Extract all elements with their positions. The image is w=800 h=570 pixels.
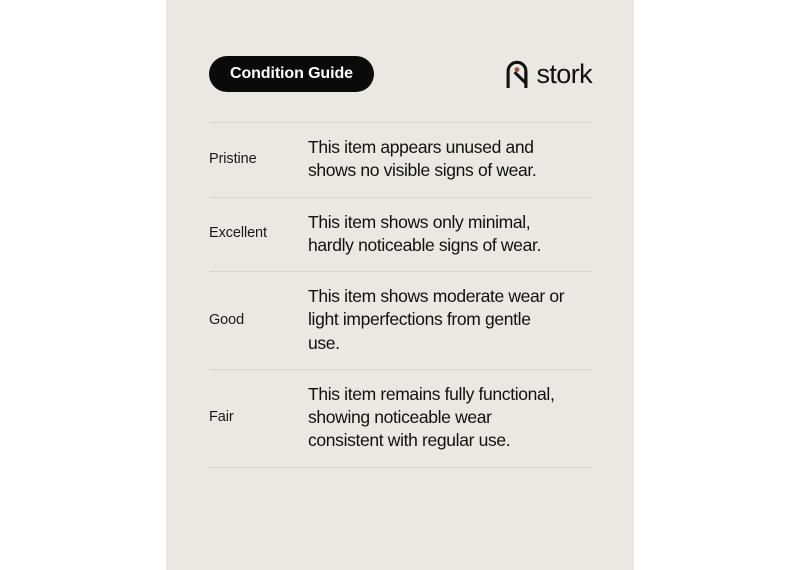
page-root: Condition Guide stork Pristine This item…: [0, 0, 800, 570]
condition-label: Pristine: [209, 150, 308, 169]
table-divider: [209, 467, 592, 468]
condition-label: Fair: [209, 408, 308, 427]
table-row: Good This item shows moderate wear or li…: [209, 272, 592, 369]
condition-label: Good: [209, 311, 308, 330]
table-row: Excellent This item shows only minimal, …: [209, 198, 592, 272]
condition-label: Excellent: [209, 224, 308, 243]
table-row: Fair This item remains fully functional,…: [209, 370, 592, 467]
stork-arch-logo-icon: [505, 59, 529, 89]
condition-description: This item shows moderate wear or light i…: [308, 285, 592, 355]
condition-table: Pristine This item appears unused and sh…: [209, 122, 592, 468]
condition-guide-card: Condition Guide stork Pristine This item…: [166, 0, 634, 570]
condition-description: This item shows only minimal, hardly not…: [308, 211, 592, 258]
condition-description: This item appears unused and shows no vi…: [308, 136, 592, 183]
table-row: Pristine This item appears unused and sh…: [209, 123, 592, 197]
brand-name: stork: [536, 61, 592, 88]
card-header: Condition Guide stork: [209, 56, 592, 92]
condition-guide-pill-button[interactable]: Condition Guide: [209, 56, 374, 92]
brand-logo[interactable]: stork: [505, 59, 592, 89]
condition-description: This item remains fully functional, show…: [308, 383, 592, 453]
